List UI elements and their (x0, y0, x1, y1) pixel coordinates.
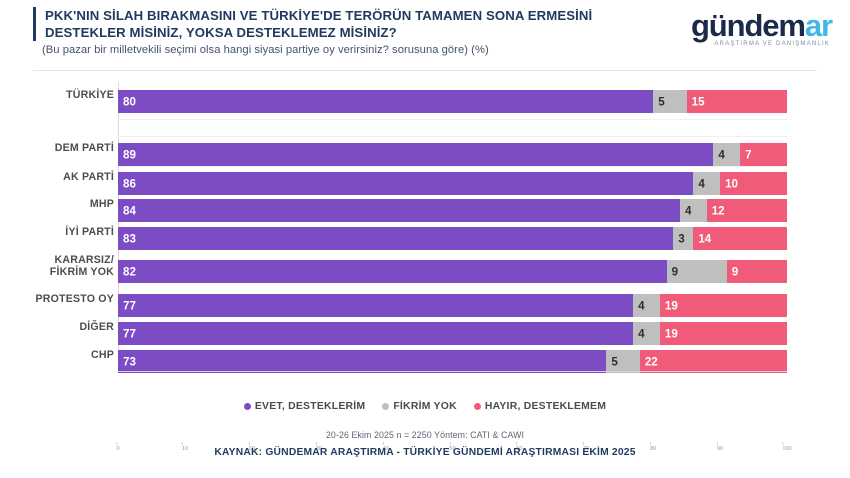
bar-segment-none: 4 (693, 172, 720, 195)
x-axis-line (118, 371, 787, 372)
bar-value-label: 12 (712, 204, 725, 217)
logo-wordmark: gündemar (650, 10, 832, 42)
bar-segment-none: 4 (713, 143, 740, 166)
legend-item[interactable]: FİKRİM YOK (382, 401, 457, 412)
table-row: TÜRKİYE80515 (118, 90, 787, 113)
survey-source: KAYNAK: GÜNDEMAR ARAŞTIRMA - TÜRKİYE GÜN… (0, 447, 850, 458)
bar-segment-none: 4 (633, 322, 660, 345)
bar-segment-no: 12 (707, 199, 787, 222)
bar-value-label: 7 (745, 148, 751, 161)
bar-segment-yes: 83 (118, 227, 673, 250)
category-label: PROTESTO OY (0, 294, 114, 306)
table-row: MHP84412 (118, 199, 787, 222)
bar-value-label: 14 (698, 232, 711, 245)
chart-legend: EVET, DESTEKLERİMFİKRİM YOKHAYIR, DESTEK… (0, 396, 850, 416)
bar-segment-no: 22 (640, 350, 787, 373)
bar-value-label: 83 (123, 232, 136, 245)
bar-value-label: 80 (123, 95, 136, 108)
bar-value-label: 86 (123, 177, 136, 190)
title-line-1: PKK'NIN SİLAH BIRAKMASINI VE TÜRKİYE'DE … (45, 7, 653, 24)
category-label: DEM PARTİ (0, 143, 114, 155)
bar-value-label: 77 (123, 327, 136, 340)
legend-label: FİKRİM YOK (393, 401, 457, 412)
bar-segment-no: 14 (693, 227, 787, 250)
table-row: PROTESTO OY77419 (118, 294, 787, 317)
bar-segment-none: 9 (667, 260, 727, 283)
bar-value-label: 84 (123, 204, 136, 217)
bar-value-label: 4 (718, 148, 724, 161)
table-row: DEM PARTİ8947 (118, 143, 787, 166)
bar-segment-none: 3 (673, 227, 693, 250)
bar-segment-no: 7 (740, 143, 787, 166)
bar-value-label: 19 (665, 299, 678, 312)
bar-value-label: 4 (638, 299, 644, 312)
bar-value-label: 5 (658, 95, 664, 108)
legend-label: EVET, DESTEKLERİM (255, 401, 365, 412)
bar-value-label: 4 (698, 177, 704, 190)
category-label: KARARSIZ/FİKRİM YOK (0, 255, 114, 278)
bar-segment-no: 9 (727, 260, 787, 283)
legend-dot-icon (244, 403, 251, 410)
bar-segment-none: 4 (680, 199, 707, 222)
bar-segment-yes: 80 (118, 90, 653, 113)
bar-segment-none: 4 (633, 294, 660, 317)
bar-segment-yes: 77 (118, 294, 633, 317)
bar-segment-none: 5 (606, 350, 639, 373)
bar-value-label: 77 (123, 299, 136, 312)
table-row: AK PARTİ86410 (118, 172, 787, 195)
table-row: DİĞER77419 (118, 322, 787, 345)
bar-segment-no: 10 (720, 172, 787, 195)
table-row: KARARSIZ/FİKRİM YOK8299 (118, 260, 787, 283)
stacked-bar-chart: TÜRKİYE80515DEM PARTİ8947AK PARTİ86410MH… (0, 74, 850, 374)
gridline (118, 136, 787, 137)
bar-value-label: 19 (665, 327, 678, 340)
legend-label: HAYIR, DESTEKLEMEM (485, 401, 606, 412)
logo-word-dark: gündem (691, 8, 805, 43)
bar-value-label: 4 (638, 327, 644, 340)
bar-value-label: 5 (611, 355, 617, 368)
category-label: AK PARTİ (0, 172, 114, 184)
header-divider (33, 70, 817, 71)
category-label: CHP (0, 350, 114, 362)
survey-meta: 20-26 Ekim 2025 n = 2250 Yöntem: CATI & … (0, 430, 850, 440)
logo-word-accent: ar (805, 8, 832, 43)
category-label: İYİ PARTİ (0, 227, 114, 239)
gundemar-logo: gündemar ARAŞTIRMA VE DANIŞMANLIK (650, 10, 832, 58)
bar-segment-yes: 86 (118, 172, 693, 195)
legend-dot-icon (474, 403, 481, 410)
bar-segment-none: 5 (653, 90, 686, 113)
title-line-2: DESTEKLER MİSİNİZ, YOKSA DESTEKLEMEZ MİS… (45, 24, 653, 41)
bar-value-label: 4 (685, 204, 691, 217)
logo-tagline: ARAŞTIRMA VE DANIŞMANLIK (650, 40, 832, 47)
gridline (118, 119, 787, 120)
table-row: CHP73522 (118, 350, 787, 373)
legend-item[interactable]: HAYIR, DESTEKLEMEM (474, 401, 606, 412)
bar-segment-yes: 84 (118, 199, 680, 222)
legend-dot-icon (382, 403, 389, 410)
bar-segment-no: 19 (660, 322, 787, 345)
bar-value-label: 89 (123, 148, 136, 161)
bar-value-label: 3 (678, 232, 684, 245)
chart-subtitle: (Bu pazar bir milletvekili seçimi olsa h… (42, 44, 489, 56)
bar-segment-yes: 82 (118, 260, 667, 283)
bar-value-label: 82 (123, 265, 136, 278)
chart-footer: 20-26 Ekim 2025 n = 2250 Yöntem: CATI & … (0, 430, 850, 458)
bar-segment-no: 15 (687, 90, 787, 113)
gridline (118, 166, 787, 167)
bar-segment-yes: 73 (118, 350, 606, 373)
bar-value-label: 10 (725, 177, 738, 190)
page-title: PKK'NIN SİLAH BIRAKMASINI VE TÜRKİYE'DE … (33, 7, 653, 41)
table-row: İYİ PARTİ83314 (118, 227, 787, 250)
bar-segment-yes: 77 (118, 322, 633, 345)
category-label: TÜRKİYE (0, 90, 114, 102)
bar-value-label: 9 (732, 265, 738, 278)
bar-value-label: 73 (123, 355, 136, 368)
legend-item[interactable]: EVET, DESTEKLERİM (244, 401, 365, 412)
bar-segment-no: 19 (660, 294, 787, 317)
bar-value-label: 22 (645, 355, 658, 368)
chart-header: PKK'NIN SİLAH BIRAKMASINI VE TÜRKİYE'DE … (0, 0, 850, 72)
bar-segment-yes: 89 (118, 143, 713, 166)
bar-value-label: 15 (692, 95, 705, 108)
category-label: DİĞER (0, 322, 114, 334)
bar-value-label: 9 (672, 265, 678, 278)
plot-area: TÜRKİYE80515DEM PARTİ8947AK PARTİ86410MH… (118, 82, 787, 372)
category-label: MHP (0, 199, 114, 211)
